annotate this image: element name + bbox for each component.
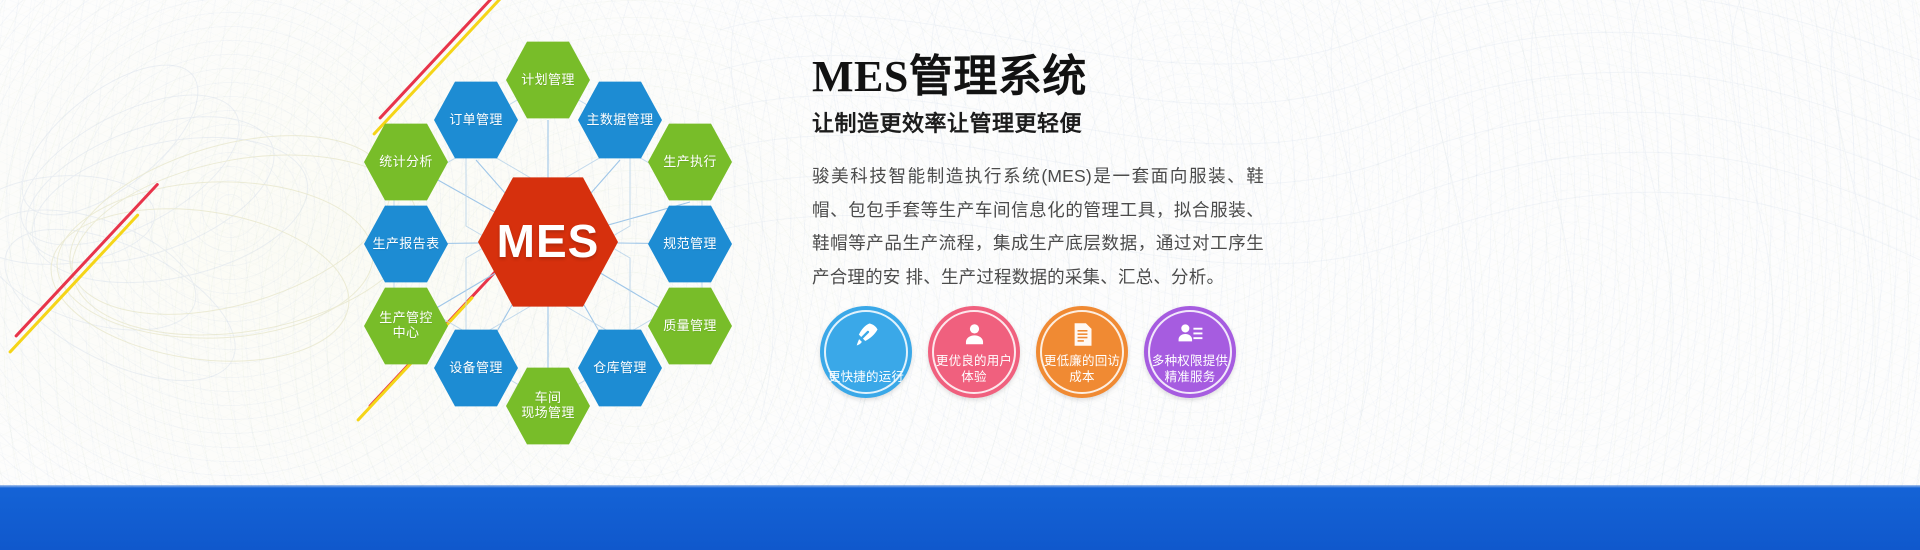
diagram-node-standards[interactable]: 规范管理 <box>648 204 732 284</box>
page-subtitle: 让制造更效率让管理更轻便 <box>812 106 1842 138</box>
feature-badge-user-experience[interactable]: 更优良的用户体验 <box>928 306 1020 398</box>
node-label: 计划管理 <box>517 73 579 88</box>
diagram-node-workshop-site[interactable]: 车间现场管理 <box>506 366 590 446</box>
node-label: 仓库管理 <box>589 361 651 376</box>
badge-label: 多种权限提供精准服务 <box>1147 354 1233 398</box>
document-icon <box>1036 319 1128 349</box>
node-label: 主数据管理 <box>582 113 657 128</box>
node-label: 生产报告表 <box>368 237 443 252</box>
user-icon <box>928 319 1020 349</box>
diagram-node-production-report[interactable]: 生产报告表 <box>364 204 448 284</box>
node-label: 生产管控中心 <box>375 311 437 340</box>
diagram-node-orders[interactable]: 订单管理 <box>434 80 518 160</box>
mes-hexagon-diagram: MES 计划管理 主数据管理 生产执行 规范管理 质量管理 仓库管理 车间现场管… <box>330 18 770 438</box>
badge-label: 更优良的用户体验 <box>931 354 1017 398</box>
node-label: 质量管理 <box>659 319 721 334</box>
core-label: MES <box>493 216 604 268</box>
node-label: 规范管理 <box>659 237 721 252</box>
badge-label: 更快捷的运行 <box>823 370 909 399</box>
badge-label: 更低廉的回访成本 <box>1039 354 1125 398</box>
node-label: 订单管理 <box>445 113 507 128</box>
page-title: MES管理系统 <box>812 54 1842 100</box>
feature-badge-low-cost-followup[interactable]: 更低廉的回访成本 <box>1036 306 1128 398</box>
diagram-node-control-center[interactable]: 生产管控中心 <box>364 286 448 366</box>
banner-text-column: MES管理系统 让制造更效率让管理更轻便 骏美科技智能制造执行系统(MES)是一… <box>812 54 1842 504</box>
diagram-core-node[interactable]: MES <box>478 176 618 308</box>
page-description: 骏美科技智能制造执行系统(MES)是一套面向服装、鞋帽、包包手套等生产车间信息化… <box>812 160 1264 294</box>
node-label: 生产执行 <box>659 155 721 170</box>
rocket-icon <box>820 319 912 349</box>
user-list-icon <box>1144 319 1236 349</box>
node-label: 设备管理 <box>445 361 507 376</box>
node-label: 统计分析 <box>375 155 437 170</box>
banner-stage: MES 计划管理 主数据管理 生产执行 规范管理 质量管理 仓库管理 车间现场管… <box>0 0 1920 550</box>
diagram-node-warehouse[interactable]: 仓库管理 <box>578 328 662 408</box>
feature-badge-permissions[interactable]: 多种权限提供精准服务 <box>1144 306 1236 398</box>
feature-badge-list: 更快捷的运行 更优良的用户体验 更低廉的回访成本 <box>820 306 1236 398</box>
feature-badge-fast-operation[interactable]: 更快捷的运行 <box>820 306 912 398</box>
node-label: 车间现场管理 <box>517 391 579 420</box>
diagram-node-production-exec[interactable]: 生产执行 <box>648 122 732 202</box>
